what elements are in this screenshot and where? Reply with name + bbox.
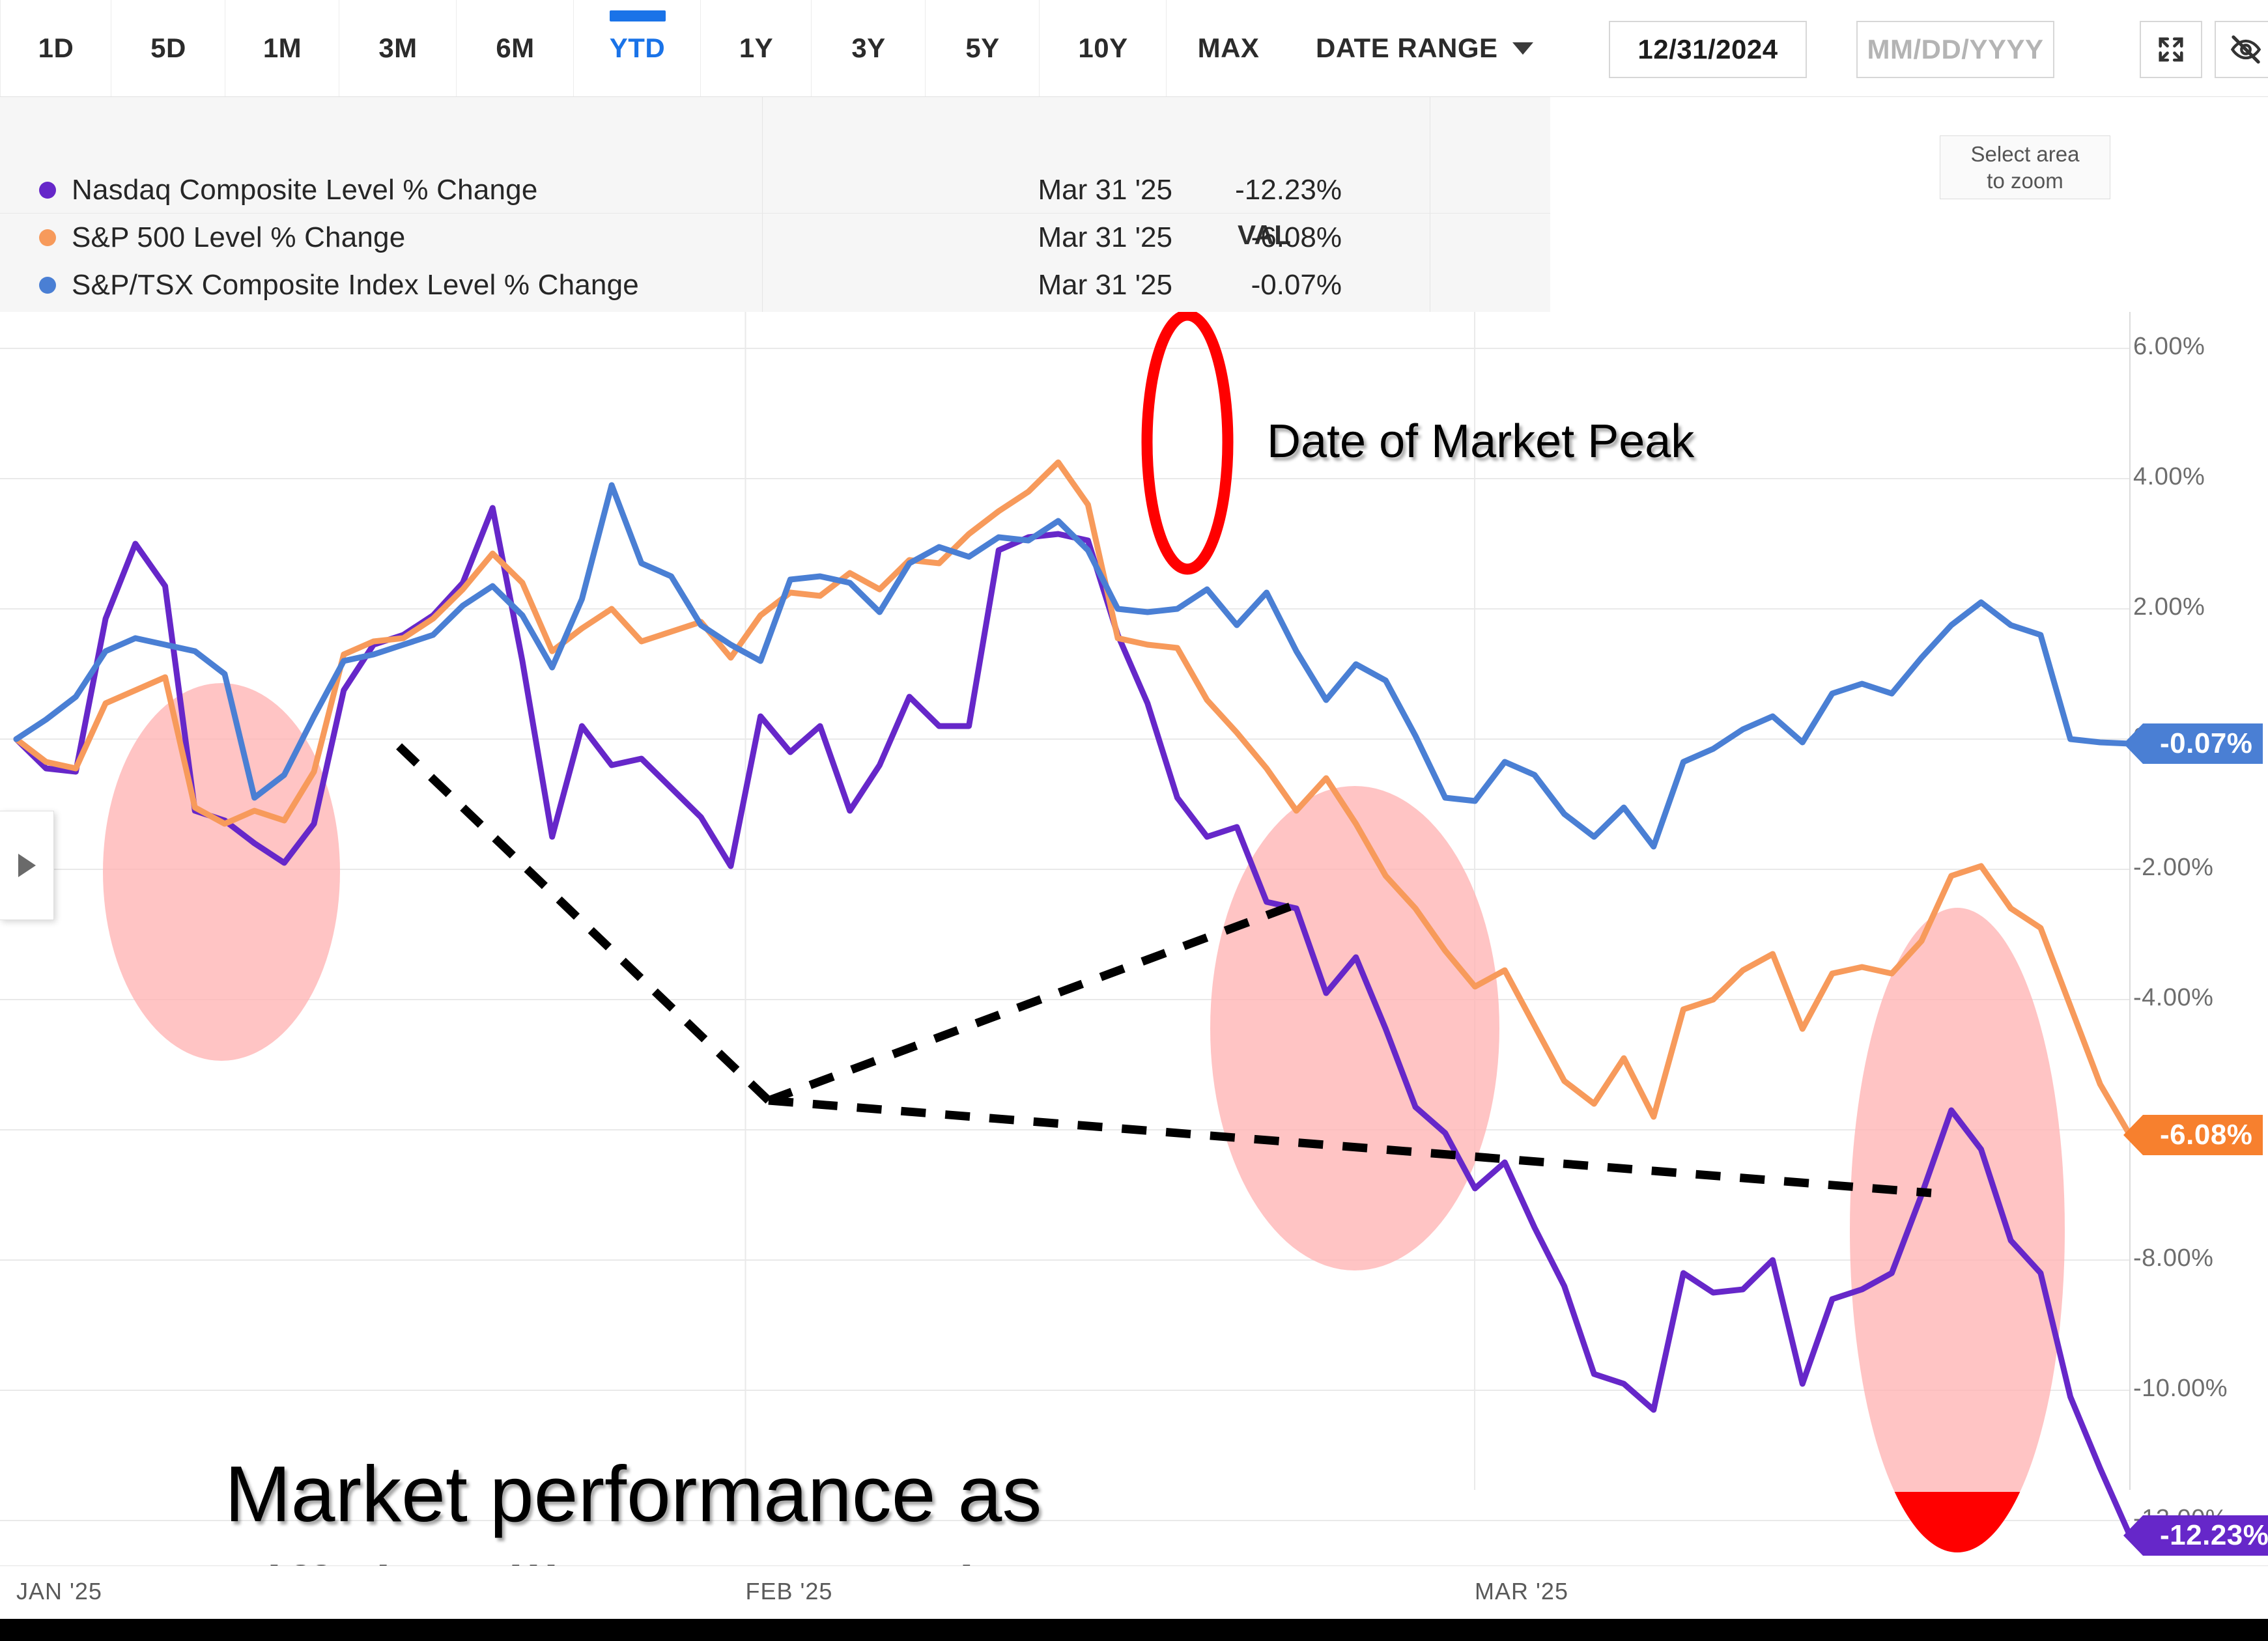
legend-series-value: -12.23% [1166,174,1342,206]
range-button-label: YTD [610,33,666,64]
date-range-label: DATE RANGE [1316,33,1498,64]
legend-series-name: S&P/TSX Composite Index Level % Change [72,269,639,302]
zoom-hint-line1: Select area [1971,141,2080,167]
series-value-flag: -12.23% [2143,1515,2268,1556]
start-date-value: 12/31/2024 [1637,34,1778,65]
legend-series-name: Nasdaq Composite Level % Change [72,174,538,206]
chevron-down-icon [1512,42,1533,55]
highlight-ellipse [1850,908,2065,1552]
legend-series-date: Mar 31 '25 [957,174,1172,206]
flag-pointer [2123,1115,2143,1155]
range-button-max[interactable]: MAX [1166,0,1290,96]
legend-row[interactable]: Nasdaq Composite Level % ChangeMar 31 '2… [0,166,1550,214]
fullscreen-button[interactable] [2140,21,2202,78]
range-button-label: 5Y [965,33,999,64]
series-legend-panel: VAL Nasdaq Composite Level % ChangeMar 3… [0,97,1550,313]
y-axis-tick-label: -2.00% [2133,854,2213,882]
series-line-2 [16,485,2130,847]
series-line-0 [16,508,2130,1536]
chart-app-root: 1D5D1M3M6MYTD1Y3Y5Y10YMAX DATE RANGE 12/… [0,0,2268,1641]
chevron-right-icon [18,854,36,877]
flag-value: -0.07% [2160,727,2252,760]
legend-series-value: -0.07% [1166,269,1342,302]
flag-value: -6.08% [2160,1119,2252,1151]
market-peak-annotation: Date of Market Peak [1267,415,1694,468]
range-button-label: MAX [1198,33,1260,64]
chart-toolbar: 1D5D1M3M6MYTD1Y3Y5Y10YMAX DATE RANGE 12/… [0,0,2268,97]
range-button-1d[interactable]: 1D [0,0,111,96]
range-button-1y[interactable]: 1Y [700,0,812,96]
range-button-5y[interactable]: 5Y [925,0,1040,96]
y-axis-tick-label: 4.00% [2133,463,2205,491]
range-button-6m[interactable]: 6M [456,0,574,96]
start-date-input[interactable]: 12/31/2024 [1609,21,1807,78]
legend-series-date: Mar 31 '25 [957,221,1172,254]
fullscreen-expand-icon [2155,33,2187,66]
series-value-flag: -6.08% [2143,1115,2263,1155]
flag-pointer [2123,1515,2143,1556]
annotation-leader-line-0 [391,738,769,1101]
active-range-indicator [610,10,666,21]
highlight-ellipse [1210,786,1499,1270]
chart-plot-area[interactable]: 6.00%4.00%2.00%0.00%-2.00%-4.00%-6.00%-8… [0,312,2268,1565]
eye-slash-icon [2229,33,2263,66]
main-annotation-line2: tariff deadline approaches [173,1549,1086,1565]
range-button-label: 3Y [851,33,885,64]
range-button-label: 10Y [1078,33,1127,64]
y-axis-tick-label: -4.00% [2133,984,2213,1012]
x-axis: JAN '25FEB '25MAR '25 [0,1565,2268,1620]
series-value-flag: -0.07% [2143,723,2263,764]
end-date-input[interactable]: MM/DD/YYYY [1856,21,2054,78]
expand-side-panel-button[interactable] [0,811,54,920]
zoom-hint-line2: to zoom [1987,167,2063,194]
legend-color-dot [39,182,56,199]
chart-svg [0,312,2268,1565]
legend-row[interactable]: S&P/TSX Composite Index Level % ChangeMa… [0,261,1550,309]
range-button-label: 5D [150,33,186,64]
range-button-label: 1D [38,33,74,64]
range-button-label: 1M [263,33,302,64]
legend-row[interactable]: S&P 500 Level % ChangeMar 31 '25-6.08% [0,214,1550,262]
range-button-1m[interactable]: 1M [225,0,339,96]
x-axis-tick-label: FEB '25 [746,1578,833,1605]
x-axis-tick-label: MAR '25 [1475,1578,1568,1605]
range-button-3m[interactable]: 3M [339,0,457,96]
range-button-3y[interactable]: 3Y [811,0,926,96]
legend-color-dot [39,277,56,294]
y-axis-tick-label: 2.00% [2133,593,2205,621]
date-range-dropdown[interactable]: DATE RANGE [1316,0,1533,96]
flag-pointer [2123,723,2143,764]
hide-series-button[interactable] [2215,21,2268,78]
range-button-label: 6M [496,33,534,64]
y-axis-tick-label: 6.00% [2133,333,2205,361]
legend-series-date: Mar 31 '25 [957,269,1172,302]
legend-series-value: -6.08% [1166,221,1342,254]
y-axis-tick-label: -8.00% [2133,1244,2213,1272]
range-button-10y[interactable]: 10Y [1039,0,1167,96]
flag-value: -12.23% [2160,1519,2268,1552]
select-area-to-zoom-hint: Select area to zoom [1940,135,2110,199]
end-date-placeholder: MM/DD/YYYY [1867,34,2043,65]
x-axis-tick-label: JAN '25 [16,1578,102,1605]
market-peak-circle [1147,315,1228,569]
range-button-5d[interactable]: 5D [111,0,225,96]
range-button-label: 3M [378,33,417,64]
legend-color-dot [39,229,56,246]
range-button-ytd[interactable]: YTD [573,0,701,96]
range-button-label: 1Y [739,33,773,64]
main-annotation-line1: Market performance as [225,1448,1042,1539]
y-axis-tick-label: -10.00% [2133,1375,2228,1403]
legend-series-name: S&P 500 Level % Change [72,221,405,254]
series-line-1 [16,462,2130,1135]
